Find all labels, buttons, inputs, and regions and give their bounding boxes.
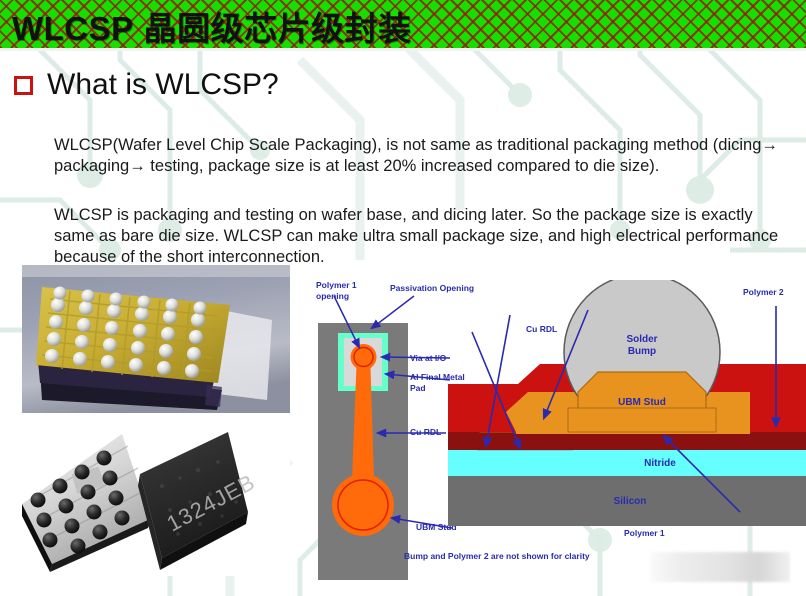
section-heading-label: What is WLCSP?	[47, 70, 279, 100]
label-polymer-2-section: Polymer 2	[743, 287, 784, 298]
wlcsp-die-pair-photo: 1324JEB	[22, 424, 290, 576]
wlcsp-structure-diagram: Polymer 1 opening Passivation Opening Vi…	[300, 280, 806, 580]
section-heading: What is WLCSP?	[14, 70, 279, 100]
svg-text:UBM Stud: UBM Stud	[618, 397, 666, 408]
wlcsp-die-bumps-photo	[22, 265, 290, 413]
body-paragraph-1: WLCSP(Wafer Level Chip Scale Packaging),…	[54, 135, 794, 177]
body-paragraph-2: WLCSP is packaging and testing on wafer …	[54, 205, 794, 268]
svg-text:Silicon: Silicon	[614, 496, 647, 507]
svg-text:Solder: Solder	[626, 334, 657, 345]
label-cu-rdl-section: Cu RDL	[526, 324, 557, 335]
square-bullet-icon	[14, 76, 33, 95]
header-underline	[0, 48, 806, 51]
header-banner: WLCSP晶圆级芯片级封装	[0, 0, 806, 48]
svg-text:Nitride: Nitride	[644, 458, 676, 469]
page-title: WLCSP晶圆级芯片级封装	[12, 2, 412, 48]
label-diagram-footnote: Bump and Polymer 2 are not shown for cla…	[404, 551, 590, 562]
wlcsp-cross-section-drawing: Solder Bump UBM Stud Nitride Silicon	[420, 280, 806, 540]
page-title-en: WLCSP	[12, 10, 134, 47]
page-title-cjk: 晶圆级芯片级封装	[144, 9, 412, 48]
label-polymer-1-section: Polymer 1	[624, 528, 665, 539]
redacted-watermark	[650, 552, 790, 582]
label-polymer-1-opening: Polymer 1 opening	[316, 280, 357, 301]
svg-text:Bump: Bump	[628, 346, 656, 357]
